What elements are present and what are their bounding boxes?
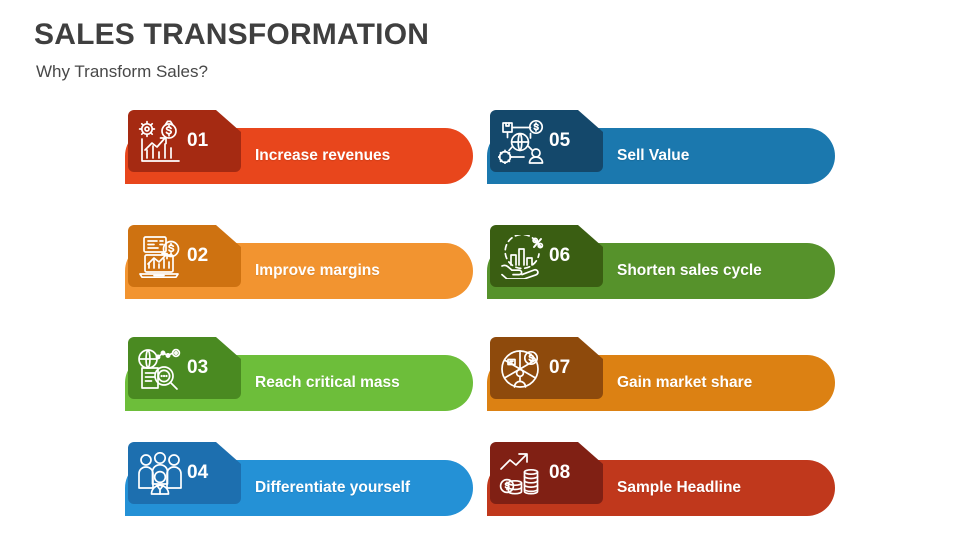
list-item[interactable]: 02 Improve margins	[125, 225, 473, 305]
item-label: Differentiate yourself	[255, 460, 410, 516]
item-number: 03	[187, 355, 235, 381]
item-number: 01	[187, 128, 235, 154]
item-number: 04	[187, 460, 235, 486]
globe-document-magnifier-icon	[136, 347, 184, 391]
list-item[interactable]: 08 Sample Headline	[487, 442, 835, 522]
list-item[interactable]: 05 Sell Value	[487, 110, 835, 190]
item-label: Sample Headline	[617, 460, 741, 516]
list-item[interactable]: 03 Reach critical mass	[125, 337, 473, 417]
slide-canvas: SALES TRANSFORMATION Why Transform Sales…	[0, 0, 960, 540]
pie-chart-share-icon	[498, 347, 546, 391]
laptop-report-dollar-icon	[136, 235, 184, 279]
page-subtitle: Why Transform Sales?	[36, 62, 208, 82]
coins-growth-arrow-icon	[498, 452, 546, 496]
list-item[interactable]: 07 Gain market share	[487, 337, 835, 417]
list-item[interactable]: 06 Shorten sales cycle	[487, 225, 835, 305]
item-label: Reach critical mass	[255, 355, 400, 411]
item-number: 08	[549, 460, 597, 486]
people-group-icon	[136, 452, 184, 496]
item-label: Sell Value	[617, 128, 689, 184]
list-item[interactable]: 04 Differentiate yourself	[125, 442, 473, 522]
item-number: 02	[187, 243, 235, 269]
list-item[interactable]: 01 Increase revenues	[125, 110, 473, 190]
item-label: Increase revenues	[255, 128, 390, 184]
gear-moneybag-barchart-icon	[136, 120, 184, 164]
item-number: 07	[549, 355, 597, 381]
item-number: 06	[549, 243, 597, 269]
item-number: 05	[549, 128, 597, 154]
item-label: Improve margins	[255, 243, 380, 299]
hand-bars-percent-icon	[498, 235, 546, 279]
item-label: Gain market share	[617, 355, 752, 411]
network-globe-value-icon	[498, 120, 546, 164]
page-title: SALES TRANSFORMATION	[34, 18, 429, 52]
item-label: Shorten sales cycle	[617, 243, 762, 299]
